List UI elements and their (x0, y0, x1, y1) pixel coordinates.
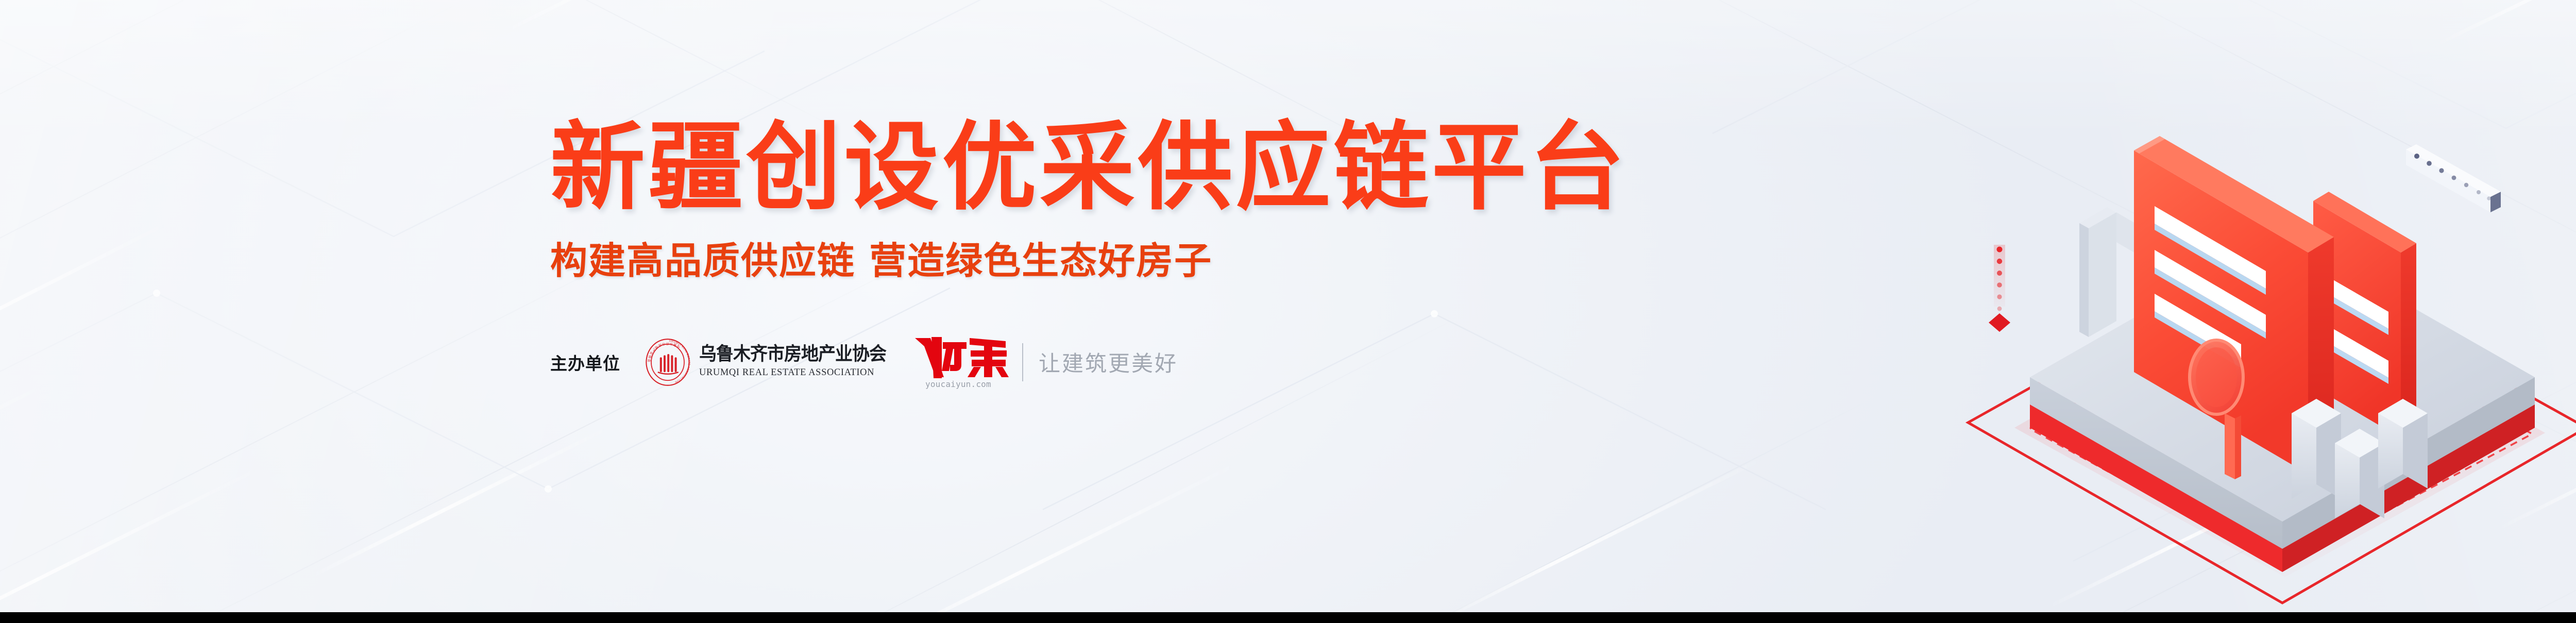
association-logo-lockup: URUMQI REAL ESTATE ASSOCIATION 乌鲁木齐市房地产业… (643, 338, 886, 387)
platform-logo-lockup: youcaiyun.com 让建筑更美好 (913, 335, 1178, 389)
association-name-cn: 乌鲁木齐市房地产业协会 (699, 345, 886, 364)
page-subtitle: 构建高品质供应链 营造绿色生态好房子 (550, 242, 1890, 279)
bottom-bar (0, 612, 2576, 623)
youcai-logo-icon: youcaiyun.com (913, 335, 1009, 389)
platform-tagline: 让建筑更美好 (1039, 346, 1178, 378)
youcai-url: youcaiyun.com (925, 379, 991, 389)
association-name-en: URUMQI REAL ESTATE ASSOCIATION (699, 367, 886, 378)
page-title: 新疆创设优采供应链平台 (550, 120, 1876, 215)
promo-banner: 新疆创设优采供应链平台 构建高品质供应链 营造绿色生态好房子 主办单位 (0, 0, 2576, 623)
association-name-block: 乌鲁木齐市房地产业协会 URUMQI REAL ESTATE ASSOCIATI… (699, 346, 886, 378)
association-seal-icon: URUMQI REAL ESTATE ASSOCIATION 乌鲁木齐市房地产业… (643, 338, 692, 387)
logo-divider (1022, 343, 1023, 381)
sponsor-row: 主办单位 (550, 335, 1890, 389)
sponsor-label: 主办单位 (550, 350, 620, 375)
banner-content: 新疆创设优采供应链平台 构建高品质供应链 营造绿色生态好房子 主办单位 (550, 120, 1890, 389)
